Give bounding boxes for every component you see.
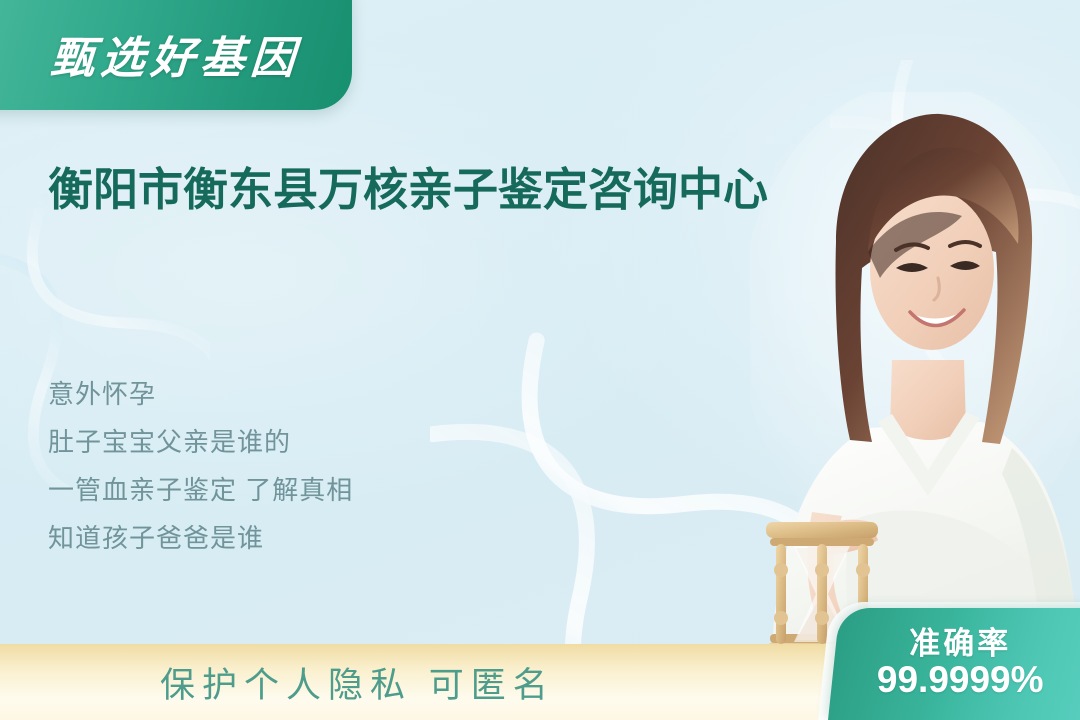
accuracy-badge-label: 准确率 xyxy=(877,627,1044,660)
privacy-banner-text: 保护个人隐私 可匿名 xyxy=(160,657,555,708)
brand-logo-text: 甄选好基因 xyxy=(49,22,303,86)
accuracy-badge-value: 99.9999% xyxy=(877,660,1044,701)
marketing-copy-block: 意外怀孕 肚子宝宝父亲是谁的 一管血亲子鉴定 了解真相 知道孩子爸爸是谁 xyxy=(48,370,568,562)
brand-logo-banner: 甄选好基因 xyxy=(0,0,352,110)
accuracy-badge: 准确率 99.9999% xyxy=(828,608,1080,720)
copy-line: 意外怀孕 xyxy=(48,370,568,418)
copy-line: 肚子宝宝父亲是谁的 xyxy=(48,418,568,466)
promo-poster: 甄选好基因 xyxy=(0,0,1080,720)
page-title: 衡阳市衡东县万核亲子鉴定咨询中心 xyxy=(48,160,848,220)
copy-line: 知道孩子爸爸是谁 xyxy=(48,514,568,562)
copy-line: 一管血亲子鉴定 了解真相 xyxy=(48,466,568,514)
